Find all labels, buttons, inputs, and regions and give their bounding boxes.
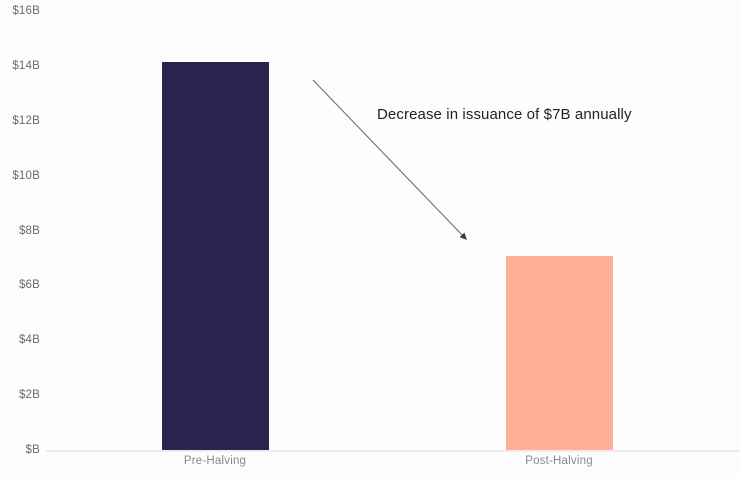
x-tick-label-pre-halving: Pre-Halving (184, 455, 246, 467)
y-tick-label-16b: $16B (12, 5, 40, 17)
bar-post-halving[interactable] (506, 256, 613, 450)
y-axis: $16B $14B $12B $10B $8B $6B $4B $2B $B (0, 0, 46, 477)
y-tick-label-2b: $2B (19, 389, 40, 401)
annotation-label: Decrease in issuance of $7B annually (377, 106, 632, 123)
x-tick-label-post-halving: Post-Halving (525, 455, 593, 467)
y-tick-label-10b: $10B (12, 170, 40, 182)
y-tick-label-6b: $6B (19, 279, 40, 291)
bar-chart: $16B $14B $12B $10B $8B $6B $4B $2B $B P… (0, 0, 740, 477)
plot-area: Pre-Halving Post-Halving (46, 0, 740, 477)
y-tick-label-8b: $8B (19, 225, 40, 237)
y-tick-label-14b: $14B (12, 60, 40, 72)
y-tick-label-4b: $4B (19, 334, 40, 346)
y-tick-label-12b: $12B (12, 115, 40, 127)
bar-pre-halving[interactable] (162, 62, 269, 450)
y-tick-label-0b: $B (26, 444, 40, 456)
x-axis-baseline (46, 450, 740, 452)
